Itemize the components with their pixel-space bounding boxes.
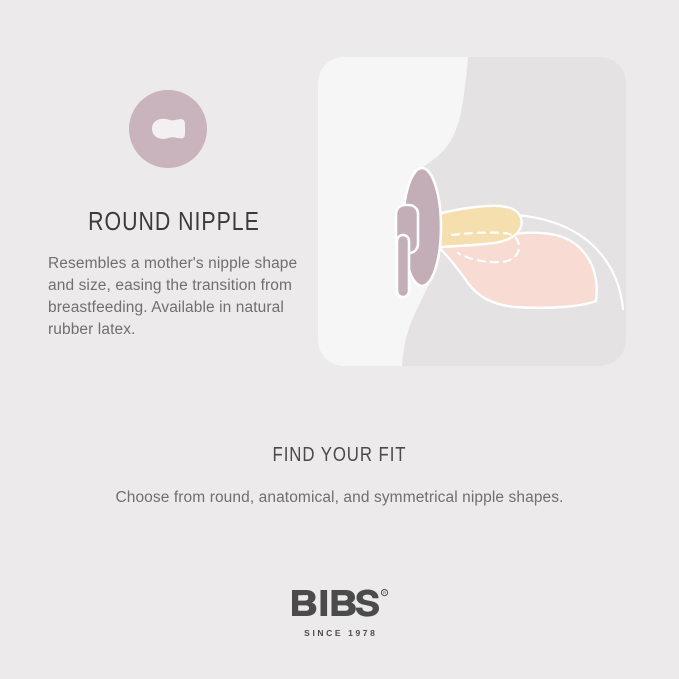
infographic-canvas: ROUND NIPPLE Resembles a mother's nipple… xyxy=(0,0,679,679)
logo-tagline: SINCE 1978 xyxy=(0,628,679,638)
feature-description: Resembles a mother's nipple shape and si… xyxy=(48,253,300,341)
find-your-fit-title: FIND YOUR FIT xyxy=(54,444,624,467)
pacifier-handle xyxy=(397,235,409,297)
find-your-fit-subtitle: Choose from round, anatomical, and symme… xyxy=(0,489,679,507)
feature-title: ROUND NIPPLE xyxy=(71,206,278,237)
bibs-wordmark: R xyxy=(290,588,390,618)
illustration-panel xyxy=(318,57,626,366)
brand-logo: R SINCE 1978 xyxy=(0,588,679,638)
round-nipple-icon xyxy=(129,90,207,168)
find-your-fit-block: FIND YOUR FIT Choose from round, anatomi… xyxy=(0,444,679,507)
feature-block: ROUND NIPPLE Resembles a mother's nipple… xyxy=(48,90,300,341)
heart-icon xyxy=(302,595,308,600)
svg-text:R: R xyxy=(382,590,385,595)
